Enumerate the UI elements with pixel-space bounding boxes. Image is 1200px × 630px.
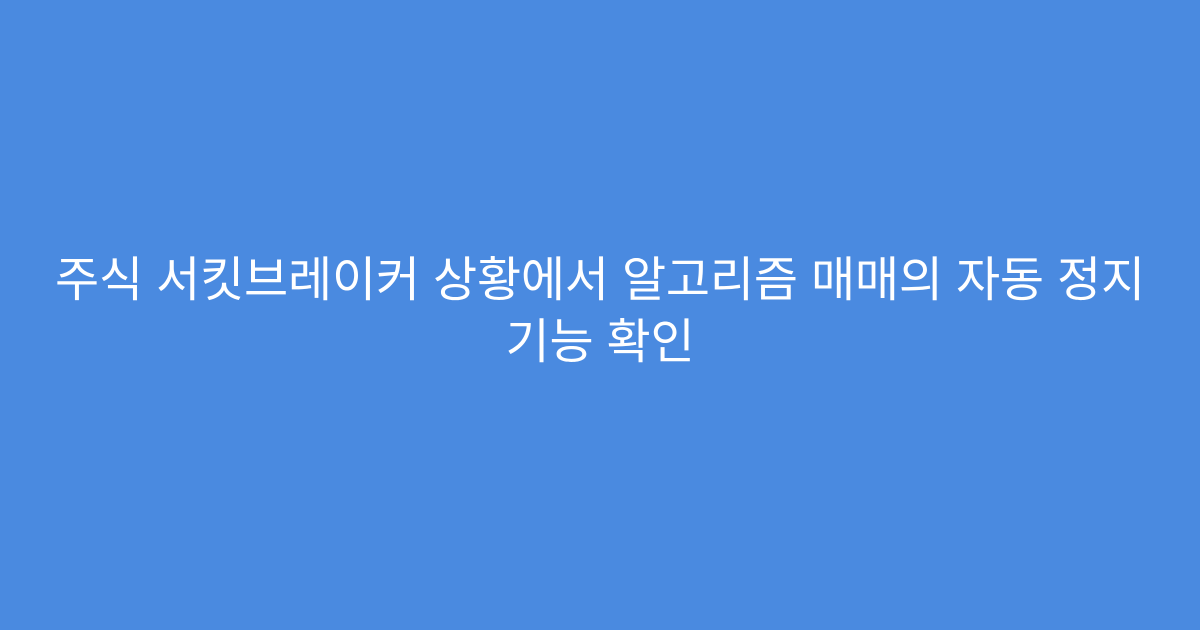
og-title-card: 주식 서킷브레이커 상황에서 알고리즘 매매의 자동 정지 기능 확인 bbox=[0, 0, 1200, 630]
title-block: 주식 서킷브레이커 상황에서 알고리즘 매매의 자동 정지 기능 확인 bbox=[0, 250, 1200, 374]
page-title: 주식 서킷브레이커 상황에서 알고리즘 매매의 자동 정지 기능 확인 bbox=[52, 250, 1148, 374]
